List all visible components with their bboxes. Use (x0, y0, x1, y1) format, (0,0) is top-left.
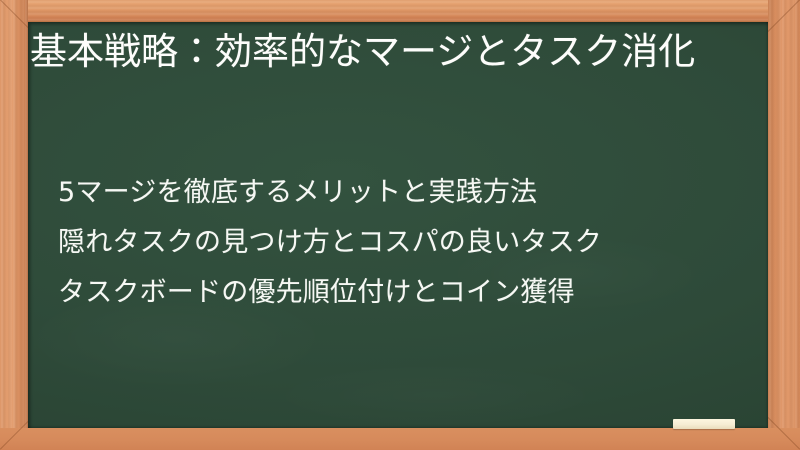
frame-rail-left (0, 0, 28, 450)
chalkboard-content: 基本戦略：効率的なマージとタスク消化 5マージを徹底するメリットと実践方法 隠れ… (28, 22, 768, 428)
frame-rail-top (0, 0, 800, 22)
list-item: タスクボードの優先順位付けとコイン獲得 (58, 268, 748, 318)
chalk-stick (673, 419, 735, 429)
bullet-list: 5マージを徹底するメリットと実践方法 隠れタスクの見つけ方とコスパの良いタスク … (58, 168, 748, 318)
list-item: 5マージを徹底するメリットと実践方法 (58, 168, 748, 218)
chalkboard-slide: 基本戦略：効率的なマージとタスク消化 5マージを徹底するメリットと実践方法 隠れ… (0, 0, 800, 450)
chalkboard-surface: 基本戦略：効率的なマージとタスク消化 5マージを徹底するメリットと実践方法 隠れ… (28, 22, 768, 428)
list-item: 隠れタスクの見つけ方とコスパの良いタスク (58, 218, 748, 268)
page-title: 基本戦略：効率的なマージとタスク消化 (30, 28, 750, 76)
frame-ledge-bottom (0, 428, 800, 450)
frame-rail-right (768, 0, 800, 450)
